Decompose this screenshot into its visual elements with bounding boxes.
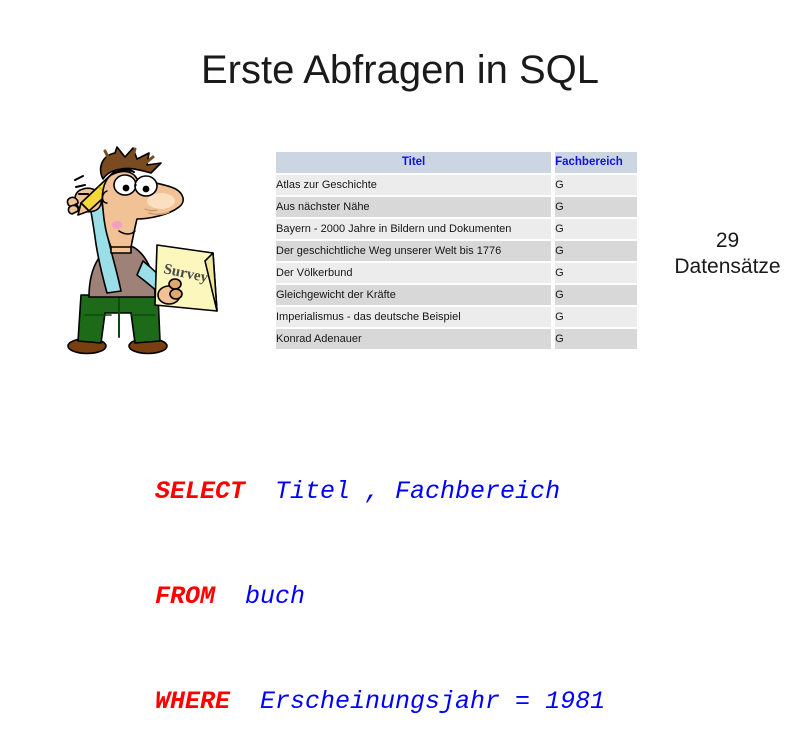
sql-identifiers-select: Titel , Fachbereich [245,477,560,506]
cell-fachbereich: G [555,263,637,285]
page-title: Erste Abfragen in SQL [0,48,800,93]
record-count: 29 Datensätze [655,228,800,280]
table-row[interactable]: Atlas zur Geschichte G [276,175,637,197]
cell-fachbereich: G [555,285,637,307]
cell-fachbereich: G [555,219,637,241]
table-row[interactable]: Gleichgewicht der Kräfte G [276,285,637,307]
cell-fachbereich: G [555,329,637,351]
cell-fachbereich: G [555,175,637,197]
table-row[interactable]: Aus nächster Nähe G [276,197,637,219]
record-count-number: 29 [655,228,800,254]
sql-line-from: FROM buch [155,579,605,614]
cartoon-man-illustration: Survey [45,145,245,360]
cell-titel: Der Völkerbund [276,263,555,285]
cell-fachbereich: G [555,307,637,329]
sql-keyword-from: FROM [155,582,215,611]
table-row[interactable]: Der Völkerbund G [276,263,637,285]
table-row[interactable]: Bayern - 2000 Jahre in Bildern und Dokum… [276,219,637,241]
sql-line-where: WHERE Erscheinungsjahr = 1981 [155,684,605,719]
sql-keyword-select: SELECT [155,477,245,506]
clipart-cartoon-man: Survey [45,145,245,360]
column-header-fachbereich[interactable]: Fachbereich [555,152,637,175]
record-count-label: Datensätze [655,254,800,280]
cell-titel: Aus nächster Nähe [276,197,555,219]
sql-statement: SELECT Titel , Fachbereich FROM buch WHE… [155,404,605,754]
table-row[interactable]: Konrad Adenauer G [276,329,637,351]
cell-titel: Atlas zur Geschichte [276,175,555,197]
table-header: Titel Fachbereich [276,152,637,175]
table-body: Atlas zur Geschichte G Aus nächster Nähe… [276,175,637,351]
cell-titel: Konrad Adenauer [276,329,555,351]
column-header-titel[interactable]: Titel [276,152,555,175]
sql-line-select: SELECT Titel , Fachbereich [155,474,605,509]
sql-identifiers-from: buch [215,582,305,611]
sql-keyword-where: WHERE [155,687,230,716]
cell-fachbereich: G [555,241,637,263]
table-row[interactable]: Imperialismus - das deutsche Beispiel G [276,307,637,329]
cell-titel: Gleichgewicht der Kräfte [276,285,555,307]
cell-titel: Der geschichtliche Weg unserer Welt bis … [276,241,555,263]
query-result-table: Titel Fachbereich Atlas zur Geschichte G… [276,152,637,351]
cell-titel: Imperialismus - das deutsche Beispiel [276,307,555,329]
cell-titel: Bayern - 2000 Jahre in Bildern und Dokum… [276,219,555,241]
cell-fachbereich: G [555,197,637,219]
sql-identifiers-where: Erscheinungsjahr = 1981 [230,687,605,716]
table-row[interactable]: Der geschichtliche Weg unserer Welt bis … [276,241,637,263]
table-header-row: Titel Fachbereich [276,152,637,175]
